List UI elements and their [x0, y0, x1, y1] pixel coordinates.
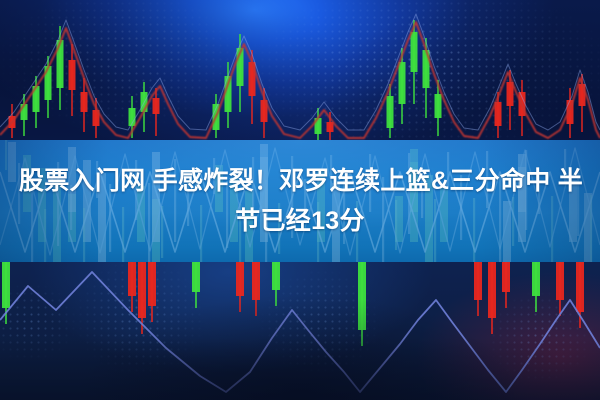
bottom-vignette — [0, 262, 600, 400]
headline-text: 股票入门网 手感炸裂！邓罗连续上篮&三分命中 半 节已经13分 — [0, 140, 600, 262]
top-vignette — [0, 0, 600, 141]
headline-line-2: 节已经13分 — [235, 201, 365, 241]
headline-line-1: 股票入门网 手感炸裂！邓罗连续上篮&三分命中 半 — [17, 161, 583, 201]
stock-banner-image: 股票入门网 手感炸裂！邓罗连续上篮&三分命中 半 节已经13分 — [0, 0, 600, 400]
